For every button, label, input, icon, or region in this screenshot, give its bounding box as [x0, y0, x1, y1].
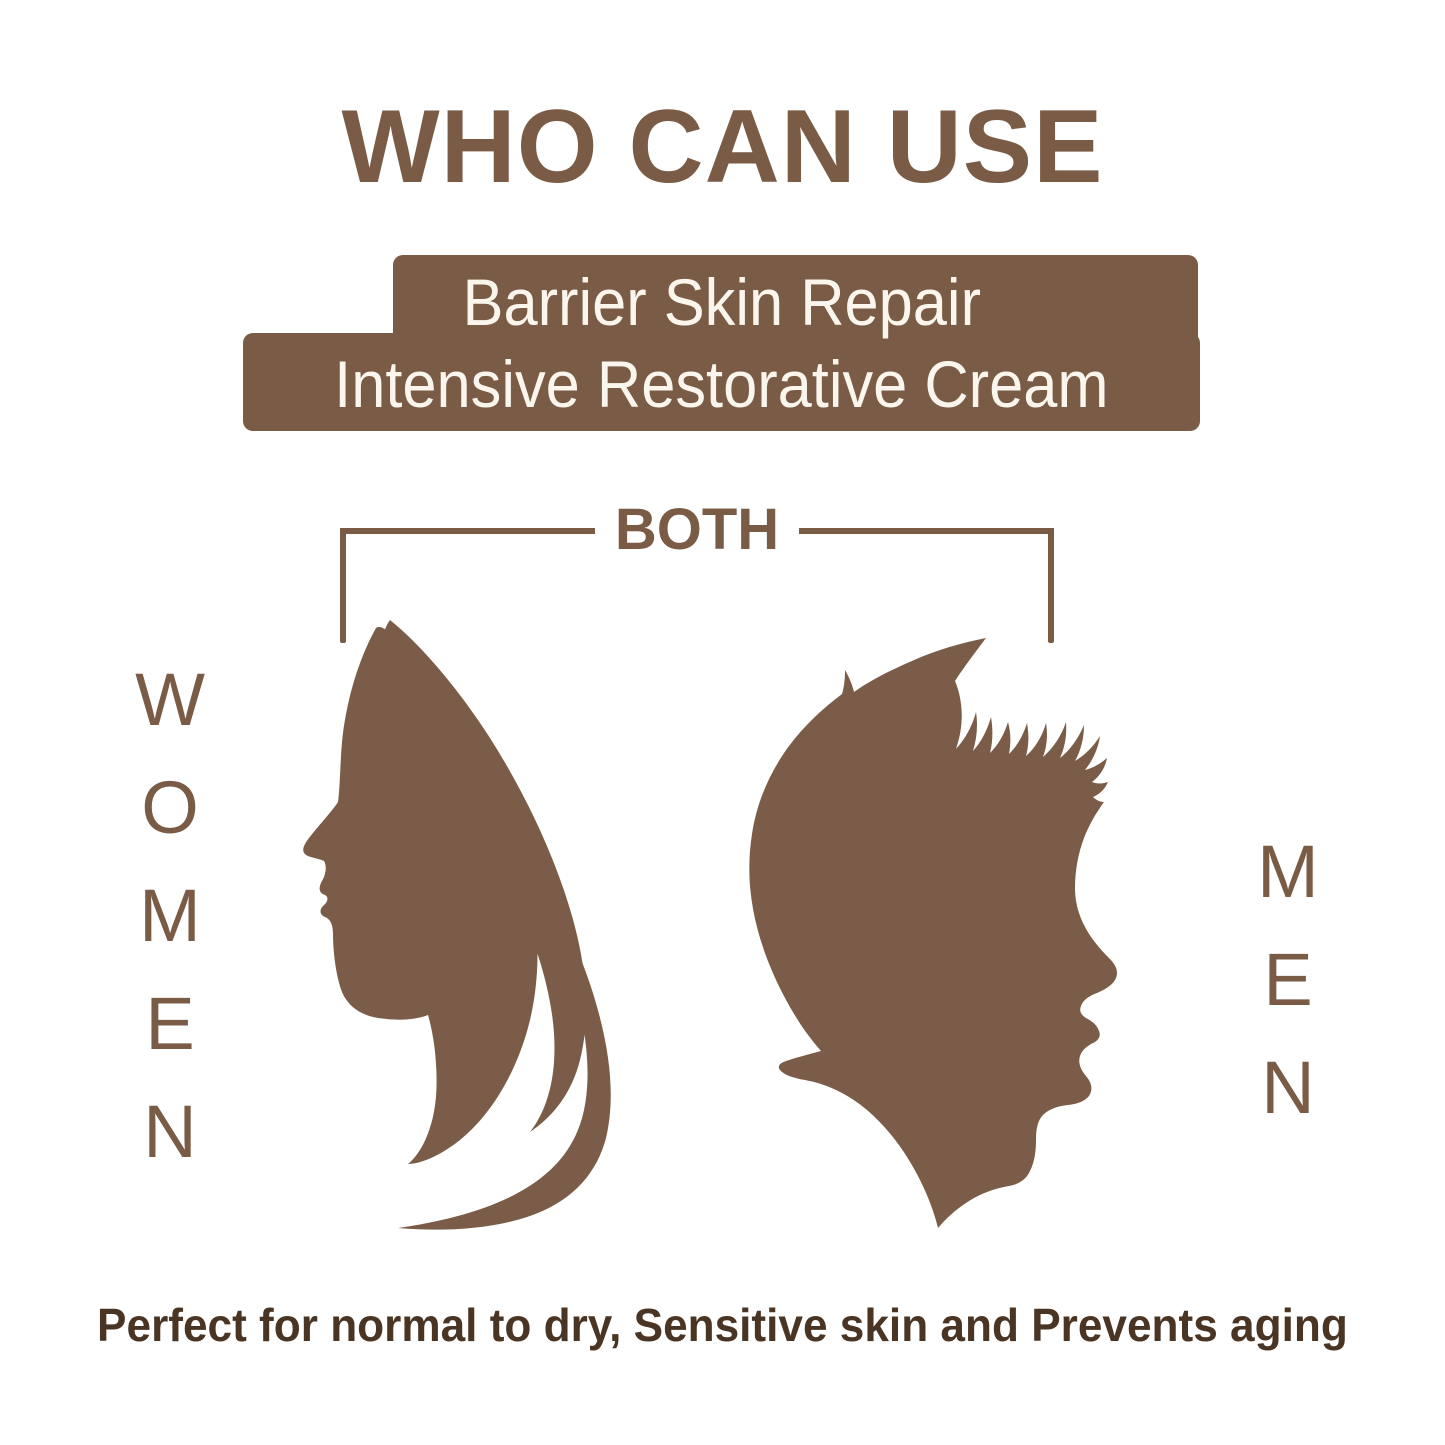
bracket-horizontal-left	[340, 528, 610, 534]
women-label: W O M E N	[110, 646, 230, 1186]
banner-line-2: Intensive Restorative Cream	[334, 343, 1108, 425]
footer-tagline-text: Perfect for normal to dry, Sensitive ski…	[97, 1297, 1348, 1353]
women-letter-2: O	[141, 754, 199, 862]
footer-tagline: Perfect for normal to dry, Sensitive ski…	[0, 1297, 1445, 1353]
product-name-banner: Barrier Skin Repair Intensive Restorativ…	[243, 255, 1200, 431]
page-title: WHO CAN USE	[0, 92, 1445, 202]
bracket-horizontal-right	[784, 528, 1054, 534]
poster-canvas: WHO CAN USE Barrier Skin Repair Intensiv…	[0, 0, 1445, 1445]
women-letter-3: M	[139, 862, 201, 970]
women-letter-1: W	[135, 646, 205, 754]
banner-text-group: Barrier Skin Repair Intensive Restorativ…	[243, 255, 1200, 431]
men-letter-1: M	[1257, 818, 1319, 926]
men-label: M E N	[1228, 818, 1348, 1142]
man-profile-silhouette-icon	[748, 588, 1208, 1236]
men-letter-2: E	[1263, 926, 1312, 1034]
woman-profile-silhouette-icon	[280, 616, 680, 1236]
women-letter-4: E	[145, 970, 194, 1078]
bracket-label-both: BOTH	[595, 495, 799, 565]
women-letter-5: N	[143, 1078, 196, 1186]
banner-line-1: Barrier Skin Repair	[462, 261, 981, 343]
men-letter-3: N	[1261, 1034, 1314, 1142]
